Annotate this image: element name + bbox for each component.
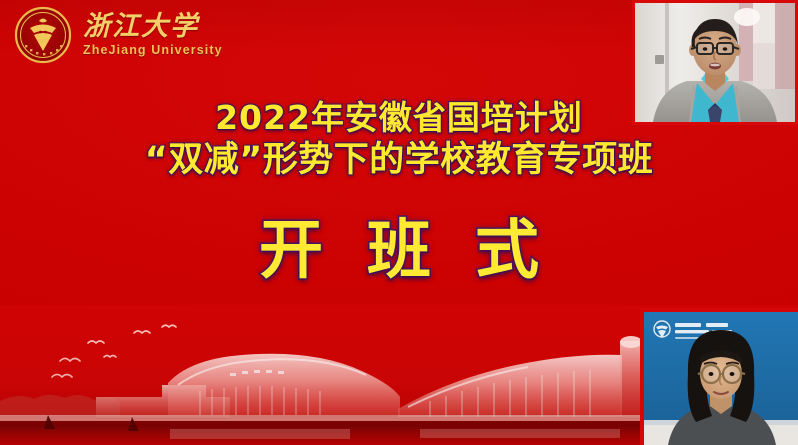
university-branding: 1897 浙江大学 ZheJiang University: [12, 4, 223, 66]
speaker-video-male[interactable]: 男性讲者: [632, 0, 798, 125]
zhejiang-university-seal-icon: 1897: [12, 4, 74, 66]
university-name-cn: 浙江大学: [83, 13, 223, 40]
speaker-video-male-label: 男性讲者: [635, 122, 636, 123]
university-name-en: ZheJiang University: [83, 44, 223, 57]
presentation-slide: 1897 浙江大学 ZheJiang University 2022年安徽省国培…: [0, 0, 798, 445]
svg-text:1897: 1897: [37, 39, 49, 45]
speaker-video-female[interactable]: 女性讲者: [640, 308, 798, 445]
